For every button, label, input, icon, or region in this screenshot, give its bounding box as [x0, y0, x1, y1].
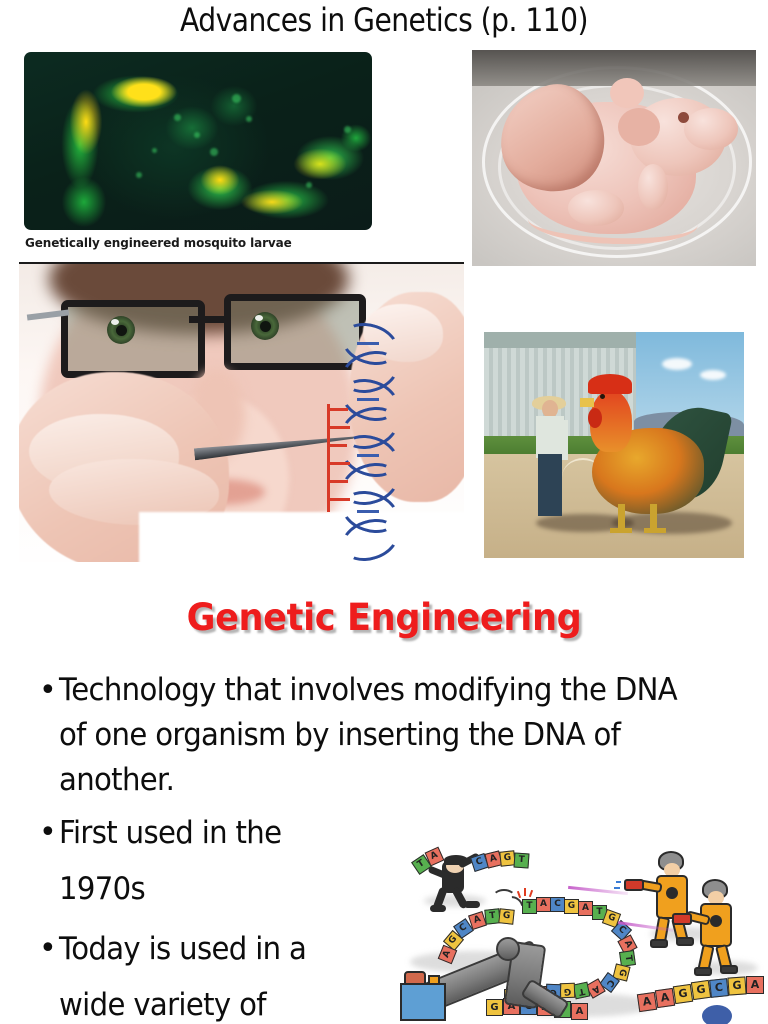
rooster-comb: [588, 374, 632, 394]
page-title: Advances in Genetics (p. 110): [46, 0, 722, 40]
bullet-marker: •: [33, 805, 59, 861]
image-mosquito-larvae: [24, 52, 372, 230]
list-item: • Technology that involves modifying the…: [33, 668, 723, 803]
bullet-text: Technology that involves modifying the D…: [59, 668, 683, 803]
mouse-natural-ear: [618, 108, 660, 146]
section-heading: Genetic Engineering: [19, 596, 749, 639]
glasses-left-lens: [61, 300, 205, 378]
bullet-marker: •: [33, 668, 59, 713]
machine-base: [400, 983, 446, 1021]
image-scientist-editing-dna: [19, 262, 464, 562]
image-dna-engineering-cartoon: C A G T A T T A C G A T G C A T G C A T …: [400, 843, 768, 1024]
image-lab-mouse-with-ear: [472, 50, 756, 266]
slide-canvas: Advances in Genetics (p. 110) Geneticall…: [0, 0, 768, 1024]
dna-fragment-red: [321, 404, 355, 512]
laser-gun: [624, 879, 644, 891]
bullet-text: First used in the 1970s: [59, 805, 369, 917]
laser-gun: [672, 913, 692, 925]
image-giant-rooster: [484, 332, 744, 558]
image-caption-mosquito-larvae: Genetically engineered mosquito larvae: [25, 236, 292, 250]
bullet-marker: •: [33, 921, 59, 977]
bullet-text: Today is used in a wide variety of: [59, 921, 369, 1024]
farmer-pants: [538, 454, 562, 516]
